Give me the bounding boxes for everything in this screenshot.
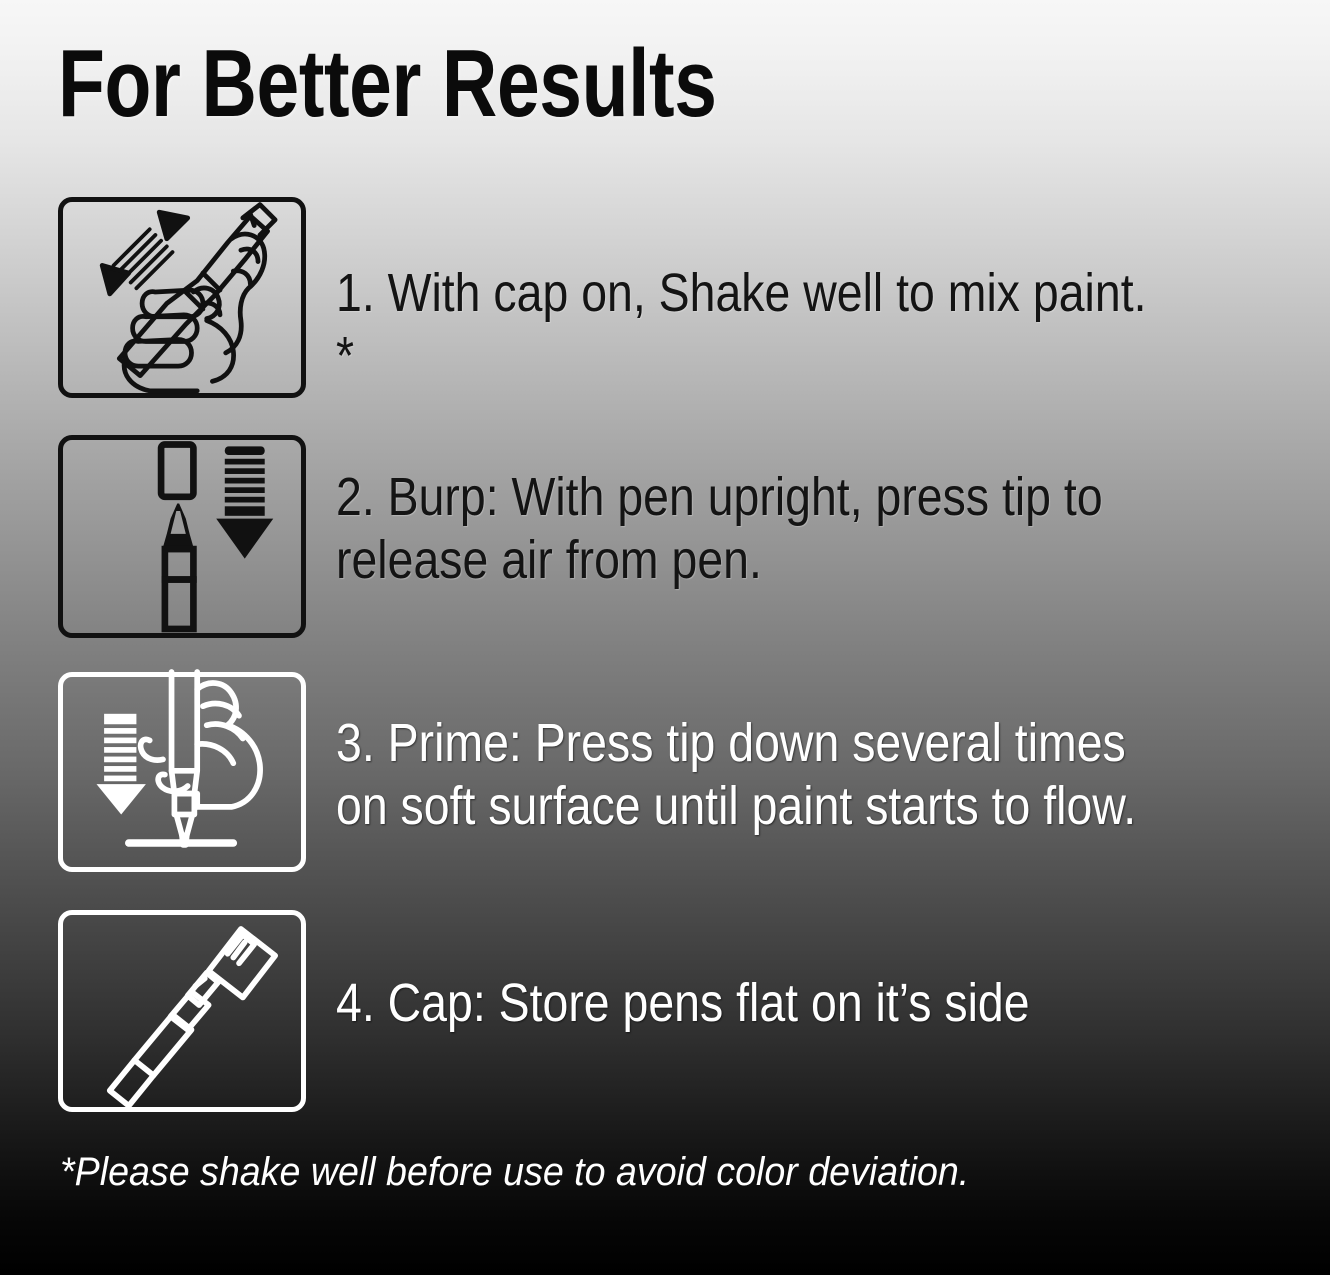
step-text-3: 3. Prime: Press tip down several times o… <box>336 712 1162 838</box>
footnote-text: *Please shake well before use to avoid c… <box>60 1148 969 1196</box>
step-text-4: 4. Cap: Store pens flat on it’s side <box>336 972 1162 1035</box>
step-text-1: 1. With cap on, Shake well to mix paint.… <box>336 262 1162 388</box>
step-text-2: 2. Burp: With pen upright, press tip to … <box>336 466 1162 592</box>
shake-pen-icon <box>58 197 306 398</box>
cap-pen-store-icon <box>58 910 306 1112</box>
burp-pen-upright-icon <box>58 435 306 638</box>
instruction-card: For Better Results <box>0 0 1330 1275</box>
page-title: For Better Results <box>58 36 717 132</box>
prime-pen-press-icon <box>58 672 306 872</box>
